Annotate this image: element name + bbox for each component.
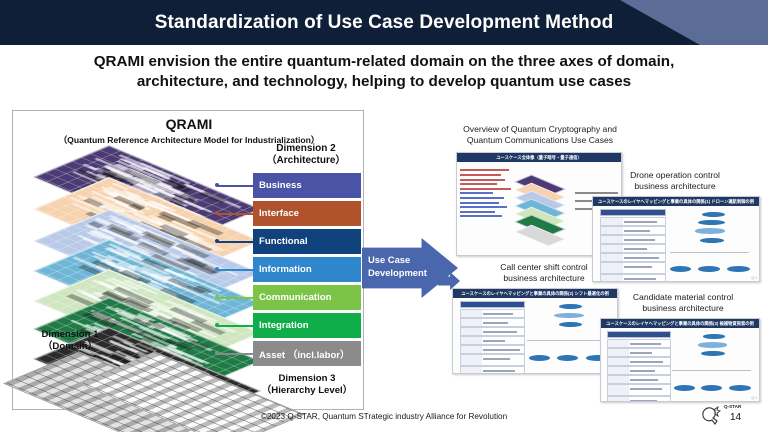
layer-bar-asset-label: Asset （incl.labor） <box>259 347 350 361</box>
usecase-thumbnail-callcenter-title: ユースケースのレイヤへマッピングと事業の具体の関係(2) シフト最適化の例 <box>453 289 617 298</box>
connector-dot-information <box>215 267 219 271</box>
connector-information <box>218 269 254 271</box>
subheading-line-1: QRAMI envision the entire quantum-relate… <box>8 52 760 72</box>
usecase-thumbnail-callcenter-body: Q-1 <box>453 298 617 373</box>
usecase-caption-drone: Drone operation control business archite… <box>600 170 750 192</box>
dimension-2-label-line-2: （Architecture） <box>247 155 365 167</box>
usecase-caption-material-line-1: Candidate material control <box>606 292 760 303</box>
layer-bar-integration[interactable]: Integration <box>253 313 361 338</box>
usecase-thumbnail-material[interactable]: ユースケースのレイヤへマッピングと事業の具体の関係(3) 候補物質探索の例 <box>600 318 760 402</box>
usecase-caption-overview: Overview of Quantum Cryptography and Qua… <box>440 124 640 146</box>
usecase-caption-overview-line-1: Overview of Quantum Cryptography and <box>440 124 640 135</box>
dimension-3-label-line-2: （Hierarchy Level） <box>253 385 361 397</box>
title-banner: Standardization of Use Case Development … <box>0 0 768 45</box>
layer-bar-interface[interactable]: Interface <box>253 201 361 226</box>
layer-bar-functional-label: Functional <box>259 236 308 247</box>
usecase-caption-callcenter: Call center shift control business archi… <box>462 262 626 284</box>
layer-bar-business[interactable]: Business <box>253 173 361 198</box>
usecase-caption-overview-line-2: Quantum Communications Use Cases <box>440 135 640 146</box>
usecase-diagram-drone <box>664 209 754 278</box>
connector-dot-communication <box>215 295 219 299</box>
qrami-diagram-card: QRAMI （Quantum Reference Architecture Mo… <box>12 110 364 410</box>
q-star-logo-icon <box>700 406 724 426</box>
architecture-layer-bars: Business Interface Functional Informatio… <box>253 173 361 369</box>
dimension-3-label-line-1: Dimension 3 <box>253 373 361 385</box>
arrow-label: Use Case Development <box>368 254 424 279</box>
dimension-3-label: Dimension 3 （Hierarchy Level） <box>253 373 361 396</box>
connector-communication <box>218 297 254 299</box>
usecase-diagram-material <box>669 331 754 398</box>
q-star-logo: Q-STAR 14 <box>700 402 758 430</box>
layer-bar-information[interactable]: Information <box>253 257 361 282</box>
connector-dot-business <box>215 183 219 187</box>
dimension-1-label-line-1: Dimension 1 <box>27 329 113 341</box>
layer-bar-interface-label: Interface <box>259 208 299 219</box>
usecase-caption-material: Candidate material control business arch… <box>606 292 760 314</box>
usecase-caption-callcenter-line-1: Call center shift control <box>462 262 626 273</box>
connector-dot-functional <box>215 239 219 243</box>
q-star-logo-text: Q-STAR <box>724 404 741 409</box>
page-number: 14 <box>730 412 741 423</box>
slide-root: Standardization of Use Case Development … <box>0 0 768 432</box>
layer-bar-business-label: Business <box>259 180 302 191</box>
usecase-thumbnail-drone-corner: Q-1 <box>751 276 757 280</box>
connector-dot-asset <box>215 351 219 355</box>
mini-legend-left <box>460 169 512 220</box>
connector-business <box>218 185 254 187</box>
dimension-1-label-line-2: （Domain） <box>27 341 113 353</box>
arrow-label-line-1: Use Case <box>368 254 424 267</box>
layer-bar-functional[interactable]: Functional <box>253 229 361 254</box>
connector-functional <box>218 241 254 243</box>
usecase-table-material <box>607 331 670 398</box>
usecase-thumbnail-material-title: ユースケースのレイヤへマッピングと事業の具体の関係(3) 候補物質探索の例 <box>601 319 759 328</box>
layer-bar-asset[interactable]: Asset （incl.labor） <box>253 341 361 366</box>
copyright-text: ©2023 Q-STAR, Quantum STrategic industry… <box>261 412 507 421</box>
footer: ©2023 Q-STAR, Quantum STrategic industry… <box>0 406 768 426</box>
usecase-caption-drone-line-2: business architecture <box>600 181 750 192</box>
qrami-title: QRAMI <box>13 116 365 132</box>
layer-bar-information-label: Information <box>259 264 312 275</box>
connector-dot-interface <box>215 211 219 215</box>
dimension-2-label-line-1: Dimension 2 <box>247 143 365 155</box>
connector-integration <box>218 325 254 327</box>
subheading: QRAMI envision the entire quantum-relate… <box>8 52 760 92</box>
usecase-thumbnail-material-body: Q-1 <box>601 328 759 401</box>
mini-isometric-stack <box>513 175 579 242</box>
usecase-thumbnail-drone-title: ユースケースのレイヤへマッピングと事業の具体の関係(1) ドローン運航制御の例 <box>593 197 759 206</box>
use-case-development-arrow: Use Case Development <box>362 238 458 298</box>
usecase-thumbnail-material-corner: Q-1 <box>751 396 757 400</box>
usecase-caption-callcenter-line-2: business architecture <box>462 273 626 284</box>
connector-interface <box>218 213 254 215</box>
page-title: Standardization of Use Case Development … <box>0 0 768 45</box>
usecase-caption-material-line-2: business architecture <box>606 303 760 314</box>
layer-bar-communication-label: Communication <box>259 292 332 303</box>
subheading-line-2: architecture, and technology, helping to… <box>8 72 760 92</box>
usecase-table-callcenter <box>460 301 526 370</box>
connector-dot-integration <box>215 323 219 327</box>
layer-bar-communication[interactable]: Communication <box>253 285 361 310</box>
dimension-2-label: Dimension 2 （Architecture） <box>247 143 365 166</box>
arrow-label-line-2: Development <box>368 267 424 280</box>
usecase-thumbnail-overview-title: ユースケース全体像（量子暗号・量子通信） <box>457 153 621 162</box>
connector-asset <box>218 353 254 355</box>
dimension-1-label: Dimension 1 （Domain） <box>27 329 113 352</box>
usecase-caption-drone-line-1: Drone operation control <box>600 170 750 181</box>
layer-bar-integration-label: Integration <box>259 320 309 331</box>
usecase-diagram-callcenter <box>524 301 613 370</box>
usecase-thumbnail-callcenter[interactable]: ユースケースのレイヤへマッピングと事業の具体の関係(2) シフト最適化の例 <box>452 288 618 374</box>
